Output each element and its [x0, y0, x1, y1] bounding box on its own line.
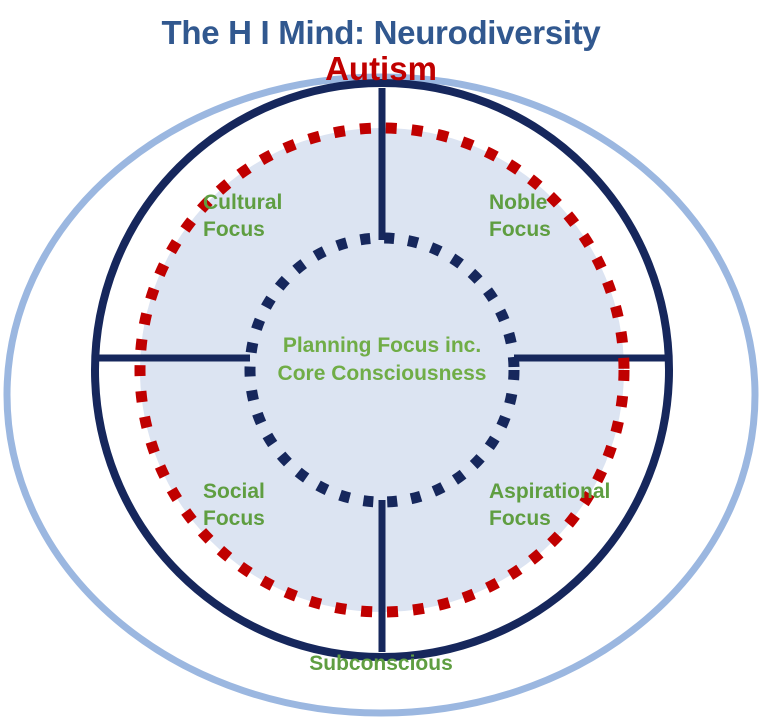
quadrant-label-social: Social Focus	[203, 479, 265, 533]
quadrant-label-cultural: Cultural Focus	[203, 190, 282, 244]
quadrant-label-social-line1: Social	[203, 480, 265, 503]
diagram-root: The H I Mind: Neurodiversity Autism Cult…	[0, 0, 762, 724]
core-label-line2: Core Consciousness	[232, 360, 532, 388]
page-subtitle: Autism	[0, 52, 762, 87]
core-label-line1: Planning Focus inc.	[283, 334, 481, 357]
quadrant-label-aspirational-line1: Aspirational	[489, 480, 610, 503]
title-block: The H I Mind: Neurodiversity Autism	[0, 16, 762, 87]
quadrant-label-cultural-line1: Cultural	[203, 191, 282, 214]
quadrant-label-noble: Noble Focus	[489, 190, 551, 244]
quadrant-label-cultural-line2: Focus	[203, 217, 282, 244]
quadrant-label-social-line2: Focus	[203, 506, 265, 533]
page-title: The H I Mind: Neurodiversity	[0, 16, 762, 51]
core-label: Planning Focus inc. Core Consciousness	[232, 332, 532, 387]
quadrant-label-noble-line1: Noble	[489, 191, 547, 214]
quadrant-label-noble-line2: Focus	[489, 217, 551, 244]
quadrant-label-aspirational-line2: Focus	[489, 506, 610, 533]
quadrant-label-aspirational: Aspirational Focus	[489, 479, 610, 533]
outer-ring-label-subconscious: Subconscious	[0, 652, 762, 676]
